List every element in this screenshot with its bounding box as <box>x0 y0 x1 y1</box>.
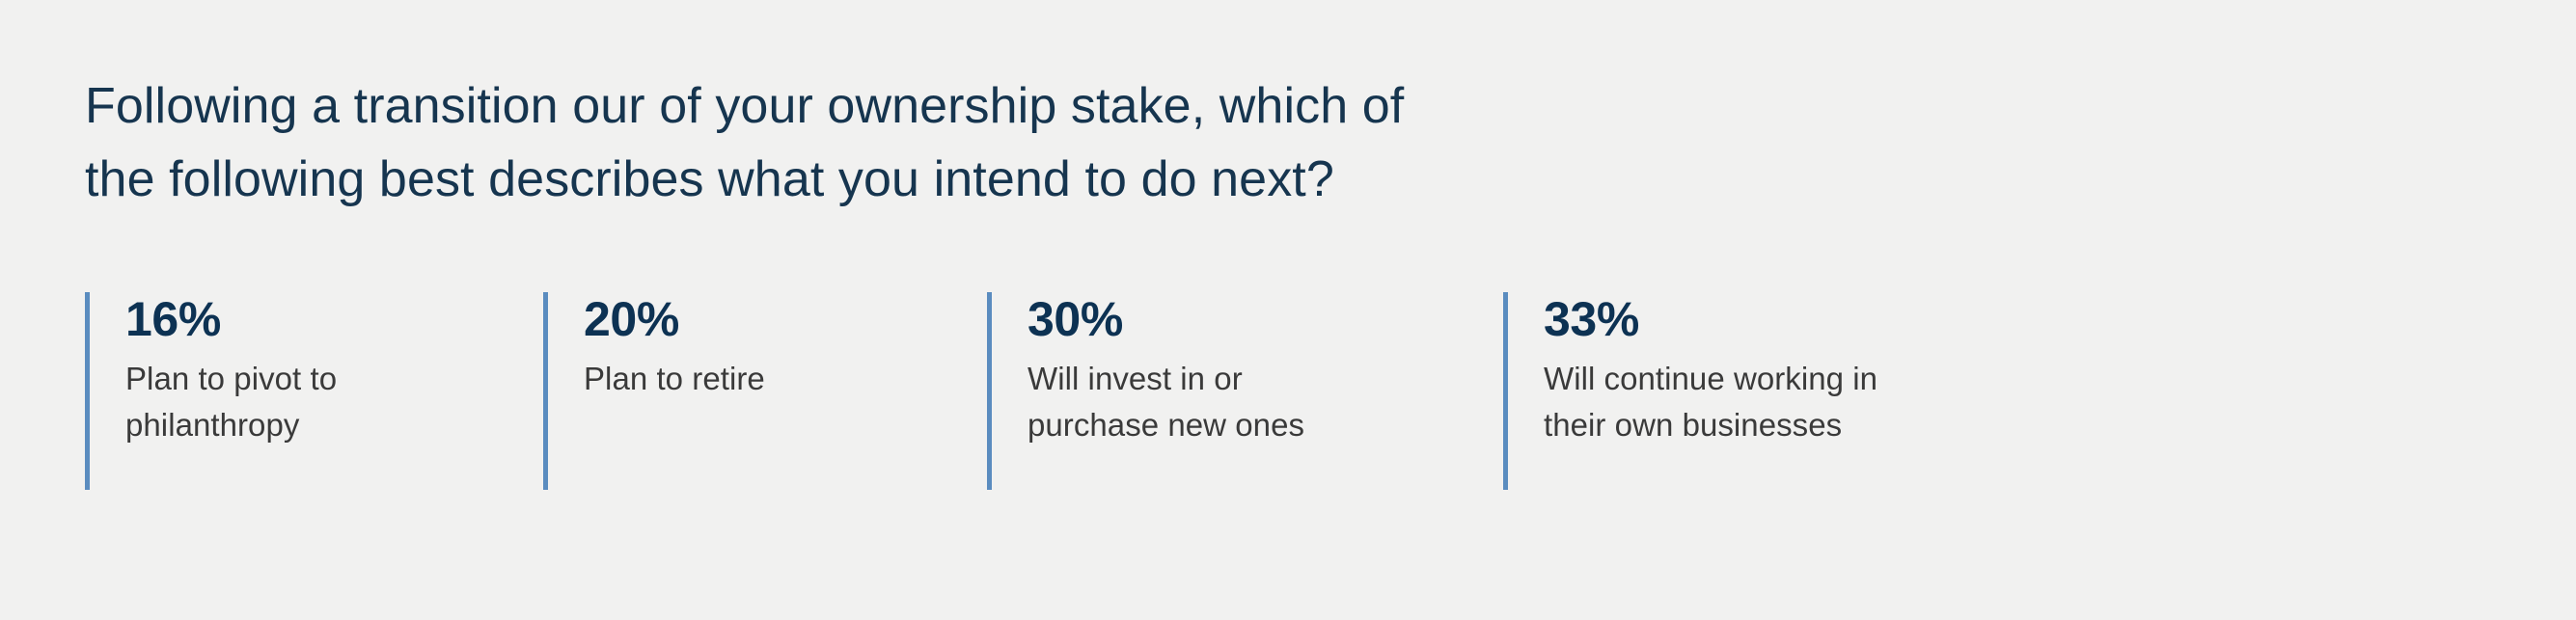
stat-label: Plan to pivot to philanthropy <box>125 356 337 448</box>
stat-value: 30% <box>1028 292 1304 346</box>
stat-value: 16% <box>125 292 337 346</box>
stat-content: 16% Plan to pivot to philanthropy <box>90 292 337 448</box>
stat-value: 33% <box>1544 292 1877 346</box>
stat-block-retire: 20% Plan to retire <box>543 292 987 490</box>
stat-block-keep-working: 33% Will continue working in their own b… <box>1503 292 2043 490</box>
stat-block-philanthropy: 16% Plan to pivot to philanthropy <box>85 292 543 490</box>
stat-block-invest: 30% Will invest in or purchase new ones <box>987 292 1503 490</box>
stats-row: 16% Plan to pivot to philanthropy 20% Pl… <box>85 292 2043 490</box>
stat-infographic: Following a transition our of your owner… <box>0 0 2576 620</box>
stat-label: Will invest in or purchase new ones <box>1028 356 1304 448</box>
stat-content: 20% Plan to retire <box>548 292 765 402</box>
stat-content: 33% Will continue working in their own b… <box>1508 292 1877 448</box>
stat-value: 20% <box>584 292 765 346</box>
stat-content: 30% Will invest in or purchase new ones <box>992 292 1304 448</box>
page-title: Following a transition our of your owner… <box>85 69 2014 216</box>
stat-label: Plan to retire <box>584 356 765 402</box>
stat-label: Will continue working in their own busin… <box>1544 356 1877 448</box>
